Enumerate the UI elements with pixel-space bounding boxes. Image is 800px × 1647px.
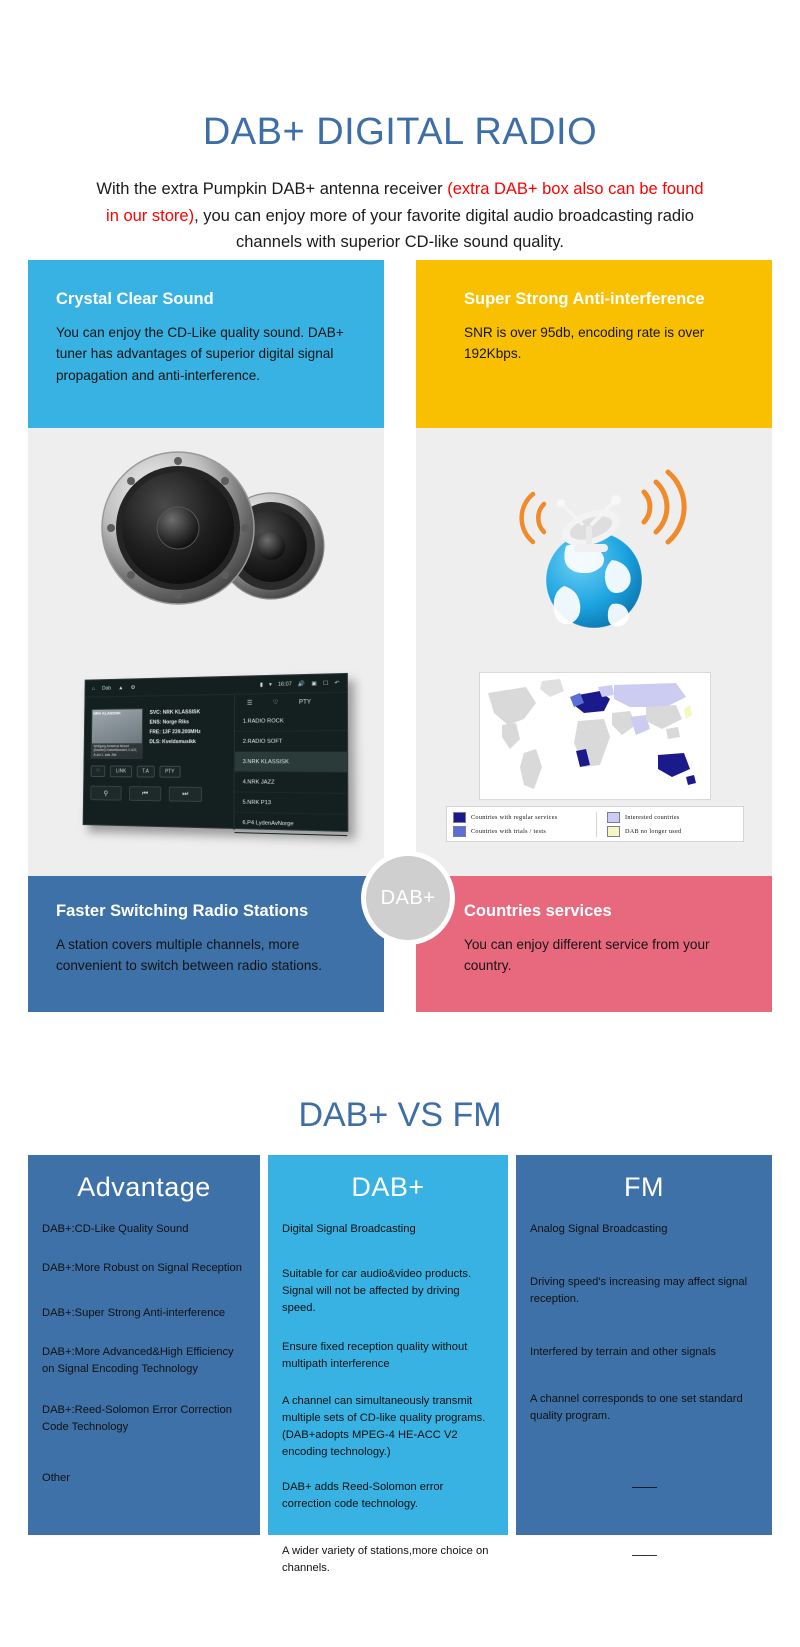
legend-label-regular: Countries with regular services [471,814,557,821]
card-title-faster: Faster Switching Radio Stations [56,902,358,921]
table-cell: DAB+:More Advanced&High Efficiency on Si… [42,1344,246,1378]
card-title-countries: Countries services [464,902,746,921]
legend-item: DAB no longer used [607,826,737,837]
world-map [479,672,711,800]
table-column-fm: FM Analog Signal Broadcasting Driving sp… [516,1155,772,1535]
table-cell: DAB+:More Robust on Signal Reception [42,1260,246,1277]
album-art: NRK KLASSISK Wolfgang Amadeus Mozart (Be… [91,708,143,759]
gear-icon[interactable]: ⚙ [131,685,136,691]
column-header-dab: DAB+ [268,1155,508,1203]
legend-swatch-trials [453,826,466,837]
table-cell: Driving speed's increasing may affect si… [530,1274,758,1308]
table-cell: DAB+:Super Strong Anti-interference [42,1305,246,1322]
feature-card-countries-services: Countries services You can enjoy differe… [416,876,772,1012]
legend-label-interested: Interested countries [625,814,680,821]
album-art-caption: Wolfgang Amadeus Mozart (Bearbei) Klarin… [92,743,142,758]
card-body-anti: SNR is over 95db, encoding rate is over … [464,322,746,365]
tab-pty[interactable]: PTY [299,699,311,705]
image-speakers [28,428,384,648]
station-item[interactable]: 4.NRK JAZZ [235,772,348,794]
clock-label: 16:07 [278,681,292,687]
home-icon[interactable]: ⌂ [92,686,95,692]
album-art-tag: NRK KLASSISK [93,710,121,715]
station-item[interactable]: 1.RADIO ROCK [235,710,347,732]
comparison-title: DAB+ VS FM [0,1096,800,1135]
table-cell: DAB+:Reed-Solomon Error Correction Code … [42,1402,246,1436]
hero-subtitle: With the extra Pumpkin DAB+ antenna rece… [90,176,710,256]
table-cell: DAB+ adds Reed-Solomon error correction … [282,1479,494,1513]
globe-satellite-illustration [416,428,772,648]
dab-plus-badge: DAB+ [361,851,455,945]
list-icon[interactable]: ☰ [247,699,252,706]
meta-fre: FRE: 13F 239.200MHz [149,727,200,737]
map-legend: Countries with regular services Countrie… [446,806,744,842]
chip-pty[interactable]: PTY [159,766,180,778]
radio-chip-row: ♡ LINK T.A PTY [91,765,227,778]
table-cell: A wider variety of stations,more choice … [282,1543,494,1577]
card-body-countries: You can enjoy different service from you… [464,934,746,977]
table-cell: A channel can simultaneously transmit mu… [282,1393,494,1461]
meta-svc: SVC: NRK KLASSISK [150,707,201,718]
speakers-illustration [28,428,384,648]
table-cell: Interfered by terrain and other signals [530,1344,758,1361]
image-radio-head-unit: ⌂ Dab ▲ ⚙ ▮ ▾ 16:07 🔊 ▣ ☐ ↶ [28,648,384,876]
favorites-icon[interactable]: ♡ [273,699,279,706]
legend-label-nolonger: DAB no longer used [625,828,681,835]
card-title-crystal: Crystal Clear Sound [56,290,358,309]
hero-sub-part1: With the extra Pumpkin DAB+ antenna rece… [96,180,447,198]
table-cell: DAB+:CD-Like Quality Sound [42,1221,246,1238]
radio-station-list[interactable]: ☰ ♡ PTY 1.RADIO ROCK 2.RADIO SOFT 3.NRK … [233,693,347,833]
image-globe-satellite [416,428,772,648]
legend-item: Countries with regular services [453,812,590,823]
table-cell: Other [42,1470,246,1487]
radio-track-info: NRK KLASSISK Wolfgang Amadeus Mozart (Be… [91,707,227,759]
meta-dls: DLS: Kveldsmusikk [149,737,200,747]
battery-icon: ▮ [260,682,263,688]
column-body-fm: Analog Signal Broadcasting Driving speed… [516,1203,772,1565]
hero-sub-part2: , you can enjoy more of your favorite di… [194,207,694,252]
radio-now-playing: NRK KLASSISK Wolfgang Amadeus Mozart (Be… [84,695,234,830]
table-cell: —— [530,1477,758,1497]
table-cell: Digital Signal Broadcasting [282,1221,494,1238]
radio-transport-controls: ⚲ ⏮ ⏭ [90,786,226,803]
station-item-selected[interactable]: 3.NRK KLASSISK [235,752,348,773]
chip-ta[interactable]: T.A [136,766,154,778]
legend-swatch-regular [453,812,466,823]
warning-icon: ▲ [118,685,123,691]
next-icon[interactable]: ⏭ [169,787,202,802]
table-column-dab: DAB+ Digital Signal Broadcasting Suitabl… [268,1155,508,1535]
world-map-svg [480,673,710,799]
station-item[interactable]: 6.P4 LydenAvNorge [234,813,347,836]
radio-status-right: ▮ ▾ 16:07 🔊 ▣ ☐ ↶ [260,680,339,688]
dab-plus-badge-label: DAB+ [381,887,436,910]
radio-list-tabs: ☰ ♡ PTY [235,693,347,712]
station-item[interactable]: 5.NRK P13 [234,792,347,815]
radio-metadata: SVC: NRK KLASSISK ENS: Norge Riks FRE: 1… [149,707,201,759]
column-body-dab: Digital Signal Broadcasting Suitable for… [268,1203,508,1577]
table-cell: —— [530,1545,758,1565]
feature-card-anti-interference: Super Strong Anti-interference SNR is ov… [416,260,772,428]
legend-label-trials: Countries with trials / tests [471,828,546,835]
image-world-coverage-map: Countries with regular services Countrie… [416,648,772,876]
screenshot-icon[interactable]: ▣ [311,680,316,686]
radio-source-label: Dab [102,685,111,691]
back-icon[interactable]: ↶ [335,680,340,686]
legend-swatch-nolonger [607,826,620,837]
card-title-anti: Super Strong Anti-interference [464,290,746,309]
card-body-faster: A station covers multiple channels, more… [56,934,358,977]
radio-main-area: NRK KLASSISK Wolfgang Amadeus Mozart (Be… [84,693,348,833]
table-column-advantage: Advantage DAB+:CD-Like Quality Sound DAB… [28,1155,260,1535]
table-cell: A channel corresponds to one set standar… [530,1391,758,1425]
radio-head-unit-mock: ⌂ Dab ▲ ⚙ ▮ ▾ 16:07 🔊 ▣ ☐ ↶ [83,673,349,832]
search-icon[interactable]: ⚲ [90,786,121,801]
legend-item: Countries with trials / tests [453,826,590,837]
legend-item: Interested countries [607,812,737,823]
column-header-advantage: Advantage [28,1155,260,1203]
table-cell: Suitable for car audio&video products. S… [282,1266,494,1317]
feature-card-faster-switching: Faster Switching Radio Stations A statio… [28,876,384,1012]
wifi-icon: ▾ [269,681,272,687]
recent-apps-icon[interactable]: ☐ [323,680,328,686]
feature-grid: Crystal Clear Sound You can enjoy the CD… [28,260,772,1012]
feature-card-crystal-clear-sound: Crystal Clear Sound You can enjoy the CD… [28,260,384,428]
favorite-icon[interactable]: ♡ [91,765,106,777]
column-body-advantage: DAB+:CD-Like Quality Sound DAB+:More Rob… [28,1203,260,1487]
station-item[interactable]: 2.RADIO SOFT [235,731,347,752]
page-title: DAB+ DIGITAL RADIO [0,112,800,154]
volume-icon[interactable]: 🔊 [298,681,305,687]
table-cell: Ensure fixed reception quality without m… [282,1339,494,1373]
card-body-crystal: You can enjoy the CD-Like quality sound.… [56,322,358,386]
table-cell: Analog Signal Broadcasting [530,1221,758,1238]
column-header-fm: FM [516,1155,772,1203]
previous-icon[interactable]: ⏮ [129,786,161,801]
comparison-table: Advantage DAB+:CD-Like Quality Sound DAB… [28,1155,772,1535]
chip-link[interactable]: LINK [110,766,132,778]
legend-swatch-interested [607,812,620,823]
meta-ens: ENS: Norge Riks [149,717,200,727]
hero-section: DAB+ DIGITAL RADIO With the extra Pumpki… [0,0,800,256]
